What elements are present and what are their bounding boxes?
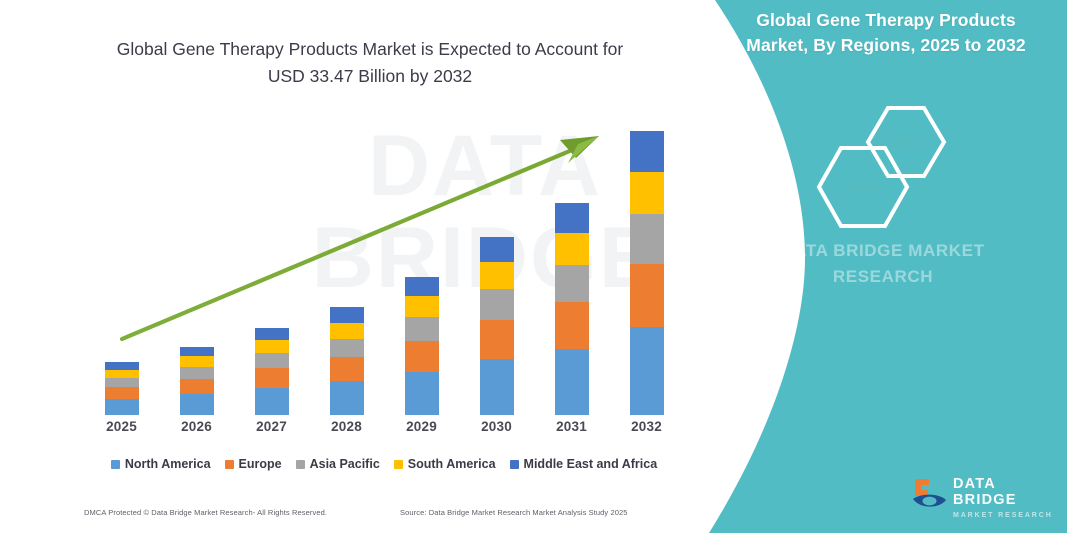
bar-segment-middle-east-and-africa bbox=[630, 131, 664, 172]
bar-segment-south-america bbox=[630, 172, 664, 214]
bar-segment-europe bbox=[180, 379, 214, 394]
panel-watermark-line-2: RESEARCH bbox=[723, 264, 1043, 290]
chart-legend: North AmericaEuropeAsia PacificSouth Ame… bbox=[84, 453, 684, 475]
panel-watermark: DATA BRIDGE MARKET RESEARCH bbox=[723, 238, 1043, 290]
infographic-canvas: Global Gene Therapy Products Market, By … bbox=[0, 0, 1067, 533]
bar-segment-middle-east-and-africa bbox=[555, 203, 589, 234]
bar-segment-south-america bbox=[480, 262, 514, 288]
x-tick-2025: 2025 bbox=[92, 419, 152, 434]
x-tick-2028: 2028 bbox=[317, 419, 377, 434]
bar-segment-north-america bbox=[630, 327, 664, 415]
bar-segment-europe bbox=[555, 302, 589, 349]
bar-segment-south-america bbox=[555, 233, 589, 264]
bar-segment-asia-pacific bbox=[255, 353, 289, 368]
x-axis-labels: 20252026202720282029203020312032 bbox=[84, 419, 684, 443]
bar-segment-south-america bbox=[105, 370, 139, 378]
regions-panel: Global Gene Therapy Products Market, By … bbox=[687, 0, 1067, 533]
bar-2027 bbox=[255, 328, 289, 415]
legend-label: Asia Pacific bbox=[310, 457, 380, 471]
bar-segment-north-america bbox=[330, 381, 364, 415]
bar-segment-south-america bbox=[405, 296, 439, 316]
bar-segment-asia-pacific bbox=[555, 265, 589, 302]
bar-segment-north-america bbox=[180, 394, 214, 415]
x-tick-2029: 2029 bbox=[392, 419, 452, 434]
chart-title: Global Gene Therapy Products Market is E… bbox=[70, 36, 670, 90]
x-tick-2027: 2027 bbox=[242, 419, 302, 434]
legend-swatch-icon bbox=[111, 460, 120, 469]
legend-item-north-america[interactable]: North America bbox=[111, 457, 211, 471]
bar-segment-middle-east-and-africa bbox=[480, 237, 514, 262]
bar-2031 bbox=[555, 203, 589, 415]
panel-title: Global Gene Therapy Products Market, By … bbox=[723, 8, 1049, 58]
legend-label: North America bbox=[125, 457, 211, 471]
bar-2026 bbox=[180, 347, 214, 415]
panel-title-line-2: Market, By Regions, 2025 to 2032 bbox=[723, 33, 1049, 58]
brand-name: DATA BRIDGE bbox=[953, 476, 1059, 508]
x-tick-2030: 2030 bbox=[467, 419, 527, 434]
bar-segment-north-america bbox=[555, 349, 589, 415]
legend-swatch-icon bbox=[225, 460, 234, 469]
bar-segment-north-america bbox=[405, 372, 439, 415]
bar-2032 bbox=[630, 131, 664, 415]
bar-2028 bbox=[330, 307, 364, 415]
bar-2029 bbox=[405, 277, 439, 415]
legend-label: Europe bbox=[239, 457, 282, 471]
bar-segment-asia-pacific bbox=[405, 317, 439, 342]
chart-title-line-1: Global Gene Therapy Products Market is E… bbox=[70, 36, 670, 63]
bar-segment-middle-east-and-africa bbox=[255, 328, 289, 341]
legend-item-europe[interactable]: Europe bbox=[225, 457, 282, 471]
bar-segment-middle-east-and-africa bbox=[405, 277, 439, 297]
stacked-bar-chart bbox=[84, 110, 684, 415]
footer-copyright: DMCA Protected © Data Bridge Market Rese… bbox=[84, 508, 327, 517]
bar-segment-north-america bbox=[255, 388, 289, 415]
chart-title-line-2: USD 33.47 Billion by 2032 bbox=[70, 63, 670, 90]
brand-text: DATA BRIDGE MARKET RESEARCH bbox=[953, 476, 1059, 521]
bar-segment-europe bbox=[330, 357, 364, 381]
legend-item-asia-pacific[interactable]: Asia Pacific bbox=[296, 457, 380, 471]
bar-segment-asia-pacific bbox=[480, 289, 514, 320]
bar-segment-south-america bbox=[255, 340, 289, 353]
hexagon-2025-label: 2025 bbox=[865, 105, 947, 179]
data-bridge-logo-icon bbox=[909, 473, 949, 513]
bar-segment-south-america bbox=[330, 323, 364, 339]
bar-segment-europe bbox=[255, 368, 289, 388]
brand-subtitle: MARKET RESEARCH bbox=[953, 510, 1059, 521]
panel-watermark-line-1: DATA BRIDGE MARKET bbox=[723, 238, 1043, 264]
panel-title-line-1: Global Gene Therapy Products bbox=[723, 8, 1049, 33]
legend-item-middle-east-and-africa[interactable]: Middle East and Africa bbox=[510, 457, 658, 471]
legend-swatch-icon bbox=[394, 460, 403, 469]
bar-segment-south-america bbox=[180, 356, 214, 366]
legend-swatch-icon bbox=[510, 460, 519, 469]
bar-segment-middle-east-and-africa bbox=[180, 347, 214, 356]
legend-label: Middle East and Africa bbox=[524, 457, 658, 471]
bar-2030 bbox=[480, 237, 514, 415]
bar-segment-asia-pacific bbox=[180, 367, 214, 379]
footer: DMCA Protected © Data Bridge Market Rese… bbox=[0, 508, 700, 528]
x-tick-2026: 2026 bbox=[167, 419, 227, 434]
bar-segment-europe bbox=[480, 320, 514, 359]
bar-2025 bbox=[105, 362, 139, 415]
bar-segment-north-america bbox=[480, 359, 514, 415]
bar-segment-europe bbox=[105, 387, 139, 399]
bar-segment-asia-pacific bbox=[105, 378, 139, 387]
bar-segment-asia-pacific bbox=[330, 339, 364, 358]
bar-segment-north-america bbox=[105, 399, 139, 415]
hexagon-badge-2025: 2025 bbox=[865, 105, 947, 179]
legend-label: South America bbox=[408, 457, 496, 471]
bar-segment-europe bbox=[405, 341, 439, 372]
footer-source: Source: Data Bridge Market Research Mark… bbox=[400, 508, 628, 517]
legend-swatch-icon bbox=[296, 460, 305, 469]
bar-segment-middle-east-and-africa bbox=[330, 307, 364, 322]
bar-segment-europe bbox=[630, 264, 664, 327]
legend-item-south-america[interactable]: South America bbox=[394, 457, 496, 471]
bar-segment-asia-pacific bbox=[630, 214, 664, 264]
x-tick-2031: 2031 bbox=[542, 419, 602, 434]
brand-logo: DATA BRIDGE MARKET RESEARCH bbox=[909, 470, 1059, 516]
x-tick-2032: 2032 bbox=[617, 419, 677, 434]
bar-segment-middle-east-and-africa bbox=[105, 362, 139, 370]
